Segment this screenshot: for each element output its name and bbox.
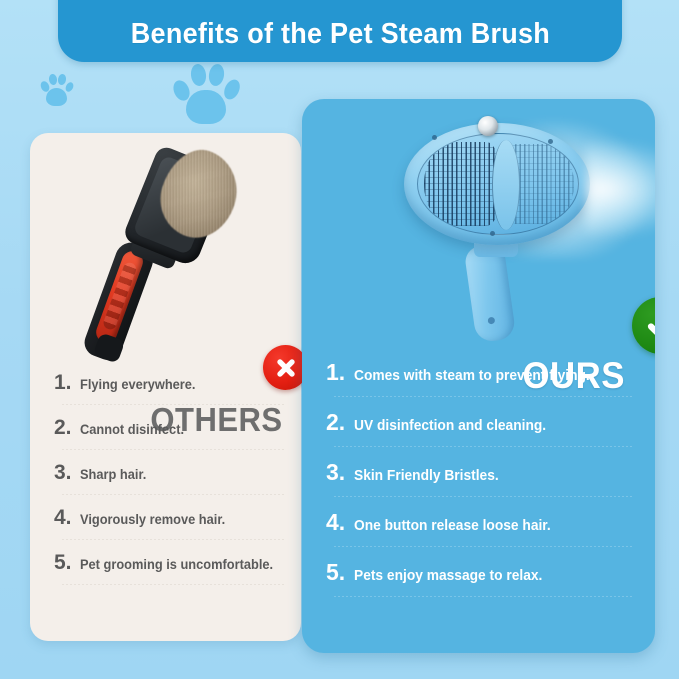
list-item: 1. Flying everywhere. [54,371,279,395]
list-divider [333,496,633,497]
list-item-number: 3. [326,459,354,486]
list-divider [61,539,285,540]
list-divider [333,546,633,547]
paw-print-icon-large [172,62,240,128]
list-item-number: 1. [54,371,80,395]
list-item-number: 2. [326,409,354,436]
brush-head-plate [417,133,579,235]
list-divider [61,404,285,405]
list-item-text: UV disinfection and cleaning. [354,418,546,434]
list-item-number: 5. [54,551,80,575]
list-item-number: 2. [54,416,80,440]
screw-icon [490,231,495,236]
list-divider [61,449,285,450]
list-item: 2. UV disinfection and cleaning. [326,409,631,436]
infographic-stage: Benefits of the Pet Steam Brush OTHERS 1… [0,0,679,679]
list-item-text: One button release loose hair. [354,518,551,534]
steam-effect [586,141,655,237]
page-title: Benefits of the Pet Steam Brush [130,18,549,62]
screw-icon [432,135,437,140]
list-item-text: Pets enjoy massage to relax. [354,568,542,584]
list-divider [61,494,285,495]
list-item: 3. Skin Friendly Bristles. [326,459,631,486]
list-item-text: Skin Friendly Bristles. [354,468,499,484]
list-item-number: 4. [326,509,354,536]
comparison-card-others: OTHERS 1. Flying everywhere. 2. Cannot d… [30,133,301,641]
list-item-number: 5. [326,559,354,586]
others-product-image [90,141,250,361]
check-icon [632,297,655,354]
ours-product-image [390,113,620,343]
bristle-divider [492,140,520,230]
list-item: 3. Sharp hair. [54,461,279,485]
list-item-text: Pet grooming is uncomfortable. [80,557,273,572]
bristles-left [424,142,502,226]
paw-print-icon-small [38,72,74,108]
comparison-card-ours: OURS 1. Comes with steam to prevent flyi… [302,99,655,653]
release-button [478,116,498,136]
list-item-text: Comes with steam to prevent flying. [354,368,590,384]
list-item-number: 4. [54,506,80,530]
ours-benefit-list: 1. Comes with steam to prevent flying. 2… [326,359,631,609]
list-item: 5. Pet grooming is uncomfortable. [54,551,279,575]
list-item-number: 3. [54,461,80,485]
list-item: 2. Cannot disinfect. [54,416,279,440]
others-benefit-list: 1. Flying everywhere. 2. Cannot disinfec… [54,371,279,596]
list-item-text: Cannot disinfect. [80,422,184,437]
list-item: 1. Comes with steam to prevent flying. [326,359,631,386]
list-divider [333,446,633,447]
list-item: 5. Pets enjoy massage to relax. [326,559,631,586]
list-item-text: Vigorously remove hair. [80,512,225,527]
header-banner: Benefits of the Pet Steam Brush [58,0,622,62]
list-item-text: Sharp hair. [80,467,146,482]
screw-icon [548,139,553,144]
list-item: 4. Vigorously remove hair. [54,506,279,530]
list-divider [333,396,633,397]
list-divider [333,596,633,597]
list-divider [61,584,285,585]
list-item: 4. One button release loose hair. [326,509,631,536]
list-item-text: Flying everywhere. [80,377,195,392]
list-item-number: 1. [326,359,354,386]
